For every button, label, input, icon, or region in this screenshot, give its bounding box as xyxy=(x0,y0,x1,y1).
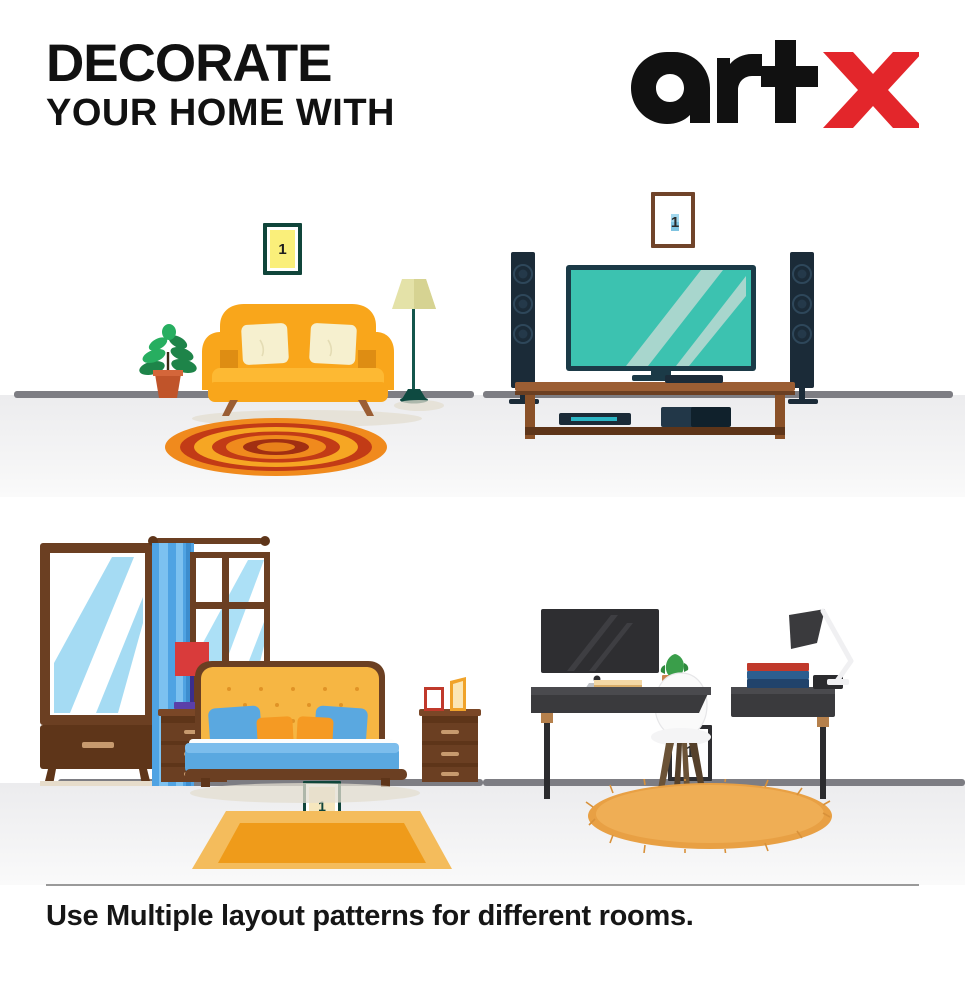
frame-mat: 1 xyxy=(267,227,298,271)
bottom-rule xyxy=(46,884,919,886)
poster-canvas: DECORATE YOUR HOME WITH xyxy=(0,0,965,1000)
scene-home-office: 1 xyxy=(483,497,965,885)
floor-lamp xyxy=(378,267,450,405)
desk-lamp xyxy=(783,607,867,691)
headline-line2: YOUR HOME WITH xyxy=(46,90,566,138)
wall-frame-living-room[interactable]: 1 xyxy=(263,223,302,275)
headline-line1: DECORATE xyxy=(46,38,566,90)
standing-mirror xyxy=(40,543,155,787)
scene-bedroom: 1 xyxy=(0,497,483,885)
scene-tv-room: 1 xyxy=(483,170,965,497)
yellow-sofa xyxy=(198,290,398,416)
potted-plant xyxy=(138,318,198,400)
frame-mat: 1 xyxy=(655,196,691,244)
rectangular-rug xyxy=(192,811,452,869)
photo-frames xyxy=(424,677,480,711)
flat-tv xyxy=(566,265,756,383)
headline-block: DECORATE YOUR HOME WITH xyxy=(46,38,566,137)
circular-rug xyxy=(165,418,387,476)
media-console xyxy=(515,382,795,444)
scenes-container: 1 xyxy=(0,170,965,885)
lamp-shadow xyxy=(394,400,444,411)
round-shag-rug xyxy=(585,779,835,853)
wall-frame-tv-room[interactable]: 1 xyxy=(651,192,695,248)
artx-logo xyxy=(619,40,919,140)
nightstand-right xyxy=(419,709,481,787)
bed xyxy=(185,659,430,787)
scene-living-room: 1 xyxy=(0,170,483,497)
caption-text: Use Multiple layout patterns for differe… xyxy=(46,900,694,933)
artx-logo-mark xyxy=(619,40,919,140)
frame-artwork: 1 xyxy=(671,214,679,231)
bed-shadow xyxy=(190,783,420,803)
frame-label: 1 xyxy=(671,214,679,231)
frame-label: 1 xyxy=(278,241,286,258)
soundbar xyxy=(665,375,723,383)
frame-artwork: 1 xyxy=(270,230,295,268)
